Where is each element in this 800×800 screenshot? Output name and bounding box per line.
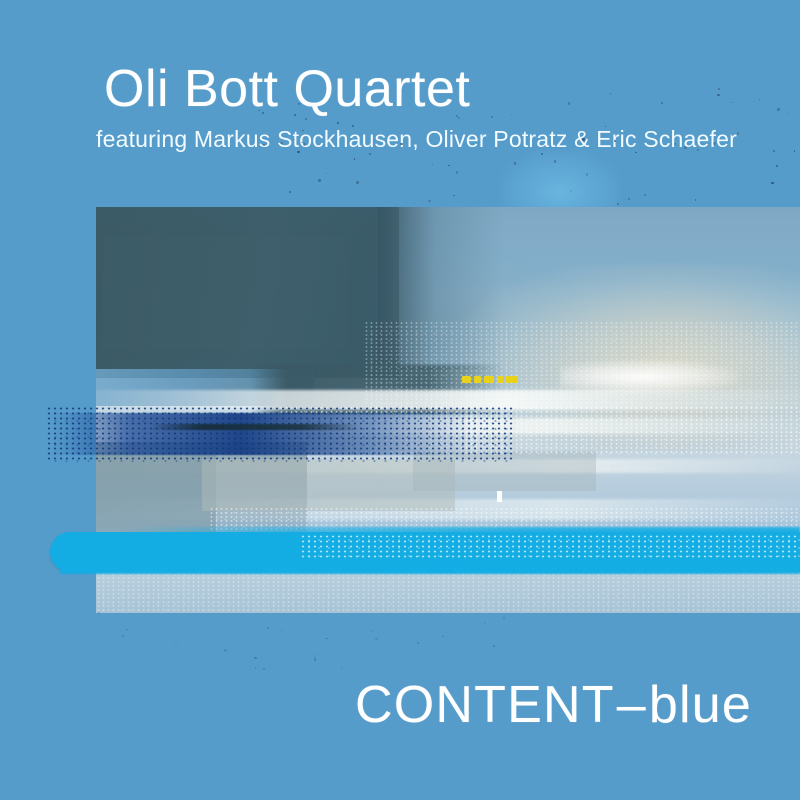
blue-haze-smudge	[500, 150, 620, 210]
featuring-credits: featuring Markus Stockhausen, Oliver Pot…	[96, 126, 737, 153]
album-title-dash: –	[615, 676, 649, 734]
cyan-brushstroke-edge	[60, 566, 800, 574]
speckle-texture-lower	[90, 612, 510, 672]
deep-blue-spatter-dots	[46, 406, 516, 462]
album-title-sub: blue	[649, 676, 752, 734]
album-title-main: CONTENT	[355, 676, 615, 734]
album-title: CONTENT–blue	[355, 675, 752, 735]
artist-name: Oli Bott Quartet	[104, 62, 470, 117]
yellow-accent-dashes	[462, 376, 520, 385]
dark-ink-line	[150, 424, 360, 430]
album-cover: Oli Bott Quartet featuring Markus Stockh…	[0, 0, 800, 800]
white-fleck-mark	[497, 491, 502, 502]
bright-highlight-blob	[560, 360, 740, 394]
dark-slate-block	[96, 207, 399, 378]
cyan-brushstroke-texture	[300, 534, 800, 560]
